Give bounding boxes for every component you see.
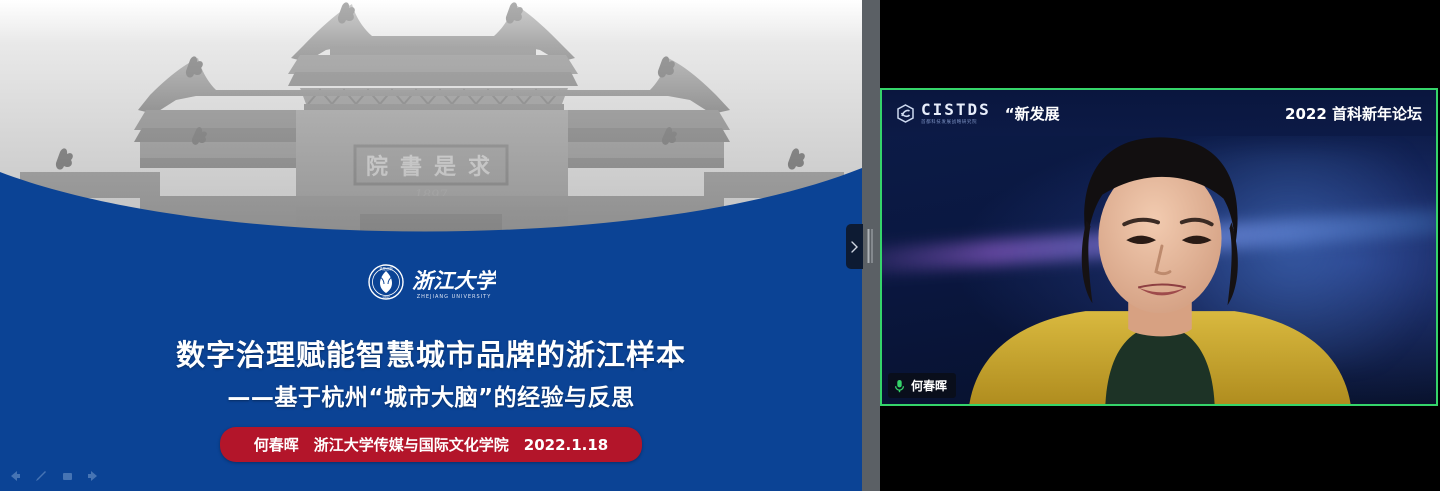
cistds-logo-text: CISTDS <box>921 102 991 118</box>
slide-subtitle: ——基于杭州“城市大脑”的经验与反思 <box>0 378 862 412</box>
speaker-video-figure <box>882 90 1436 404</box>
svg-text:ZHEJIANG UNIVERSITY: ZHEJIANG UNIVERSITY <box>417 294 492 300</box>
cistds-logo: CISTDS 首都科技发展战略研究院 <box>896 102 991 125</box>
svg-text:浙江大学: 浙江大学 <box>412 268 496 293</box>
event-theme-text: “新发展 <box>1005 103 1060 124</box>
cistds-logo-subtext: 首都科技发展战略研究院 <box>921 120 991 125</box>
pen-icon[interactable] <box>34 469 48 483</box>
chevron-right-icon <box>850 240 859 254</box>
slide-annotation-toolbar[interactable] <box>8 469 100 483</box>
splitter-grip-icon[interactable] <box>868 229 875 263</box>
microphone-icon <box>894 379 905 393</box>
pane-splitter[interactable] <box>862 0 880 491</box>
arrow-left-icon[interactable] <box>8 469 22 483</box>
participant-name: 何春晖 <box>911 377 947 394</box>
event-name-text: 2022 首科新年论坛 <box>1285 103 1422 124</box>
slide-byline-badge: 何春晖 浙江大学传媒与国际文化学院 2022.1.18 <box>220 427 642 462</box>
event-banner: CISTDS 首都科技发展战略研究院 “新发展 2022 首科新年论坛 <box>882 90 1436 136</box>
slide-title: 数字治理赋能智慧城市品牌的浙江样本 <box>0 332 862 374</box>
collapse-video-panel-button[interactable] <box>846 224 863 269</box>
screen-share-meeting-view: 院書 是求 1897 <box>0 0 1440 491</box>
zhejiang-university-logo: 求是创新 1897 浙江大学 ZHEJIANG UNIVERSITY <box>0 262 862 302</box>
cistds-hexagon-icon <box>896 104 915 123</box>
shared-screen-slide-pane[interactable]: 院書 是求 1897 <box>0 0 862 491</box>
presentation-slide: 院書 是求 1897 <box>0 0 862 491</box>
video-panel: CISTDS 首都科技发展战略研究院 “新发展 2022 首科新年论坛 <box>880 0 1440 491</box>
square-icon[interactable] <box>60 469 74 483</box>
participant-nameplate: 何春晖 <box>888 373 956 398</box>
arrow-right-icon[interactable] <box>86 469 100 483</box>
speaker-video-tile[interactable]: CISTDS 首都科技发展战略研究院 “新发展 2022 首科新年论坛 <box>880 88 1438 406</box>
svg-text:求是创新: 求是创新 <box>379 266 393 271</box>
svg-text:1897: 1897 <box>382 295 390 299</box>
